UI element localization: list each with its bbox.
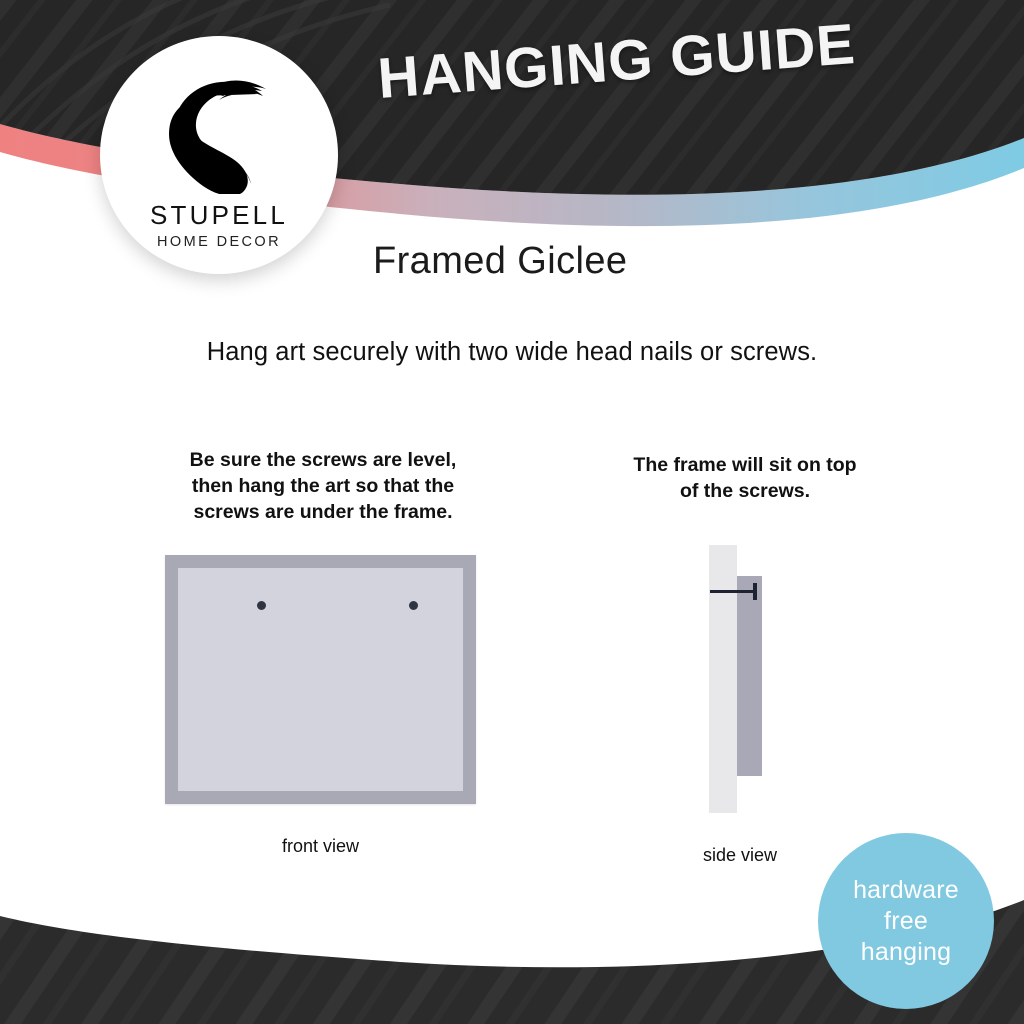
front-view-caption-line-2: then hang the art so that the (163, 473, 483, 499)
hanging-guide-page: STUPELL HOME DECOR HANGING GUIDE Framed … (0, 0, 1024, 1024)
front-view-caption-line-3: screws are under the frame. (163, 499, 483, 525)
page-title: HANGING GUIDE (376, 11, 858, 112)
side-view-wall (709, 545, 737, 813)
side-view-caption: The frame will sit on top of the screws. (600, 452, 890, 504)
stupell-logo-badge: STUPELL HOME DECOR (100, 36, 338, 274)
logo-tagline: HOME DECOR (157, 234, 281, 250)
side-view-diagram (700, 545, 780, 815)
screw-dot-right-icon (409, 601, 418, 610)
front-view-mat (178, 568, 463, 791)
front-view-diagram (165, 555, 476, 804)
screw-dot-left-icon (257, 601, 266, 610)
nail-head-icon (753, 583, 757, 600)
hardware-free-hanging-badge: hardware free hanging (818, 833, 994, 1009)
lead-instruction-text: Hang art securely with two wide head nai… (0, 338, 1024, 367)
side-view-frame (737, 576, 762, 776)
nail-shaft-icon (710, 590, 757, 593)
side-view-label: side view (660, 845, 820, 866)
logo-wordmark: STUPELL (150, 200, 288, 231)
stupell-swoosh-logo-icon (163, 66, 275, 194)
product-type-title: Framed Giclee (373, 240, 627, 283)
side-view-caption-line-1: The frame will sit on top (600, 452, 890, 478)
front-view-label: front view (165, 836, 476, 857)
side-view-caption-line-2: of the screws. (600, 478, 890, 504)
front-view-caption-line-1: Be sure the screws are level, (163, 447, 483, 473)
badge-line-1: hardware (853, 875, 959, 906)
front-view-caption: Be sure the screws are level, then hang … (163, 447, 483, 525)
badge-line-3: hanging (861, 937, 951, 968)
badge-line-2: free (884, 906, 928, 937)
